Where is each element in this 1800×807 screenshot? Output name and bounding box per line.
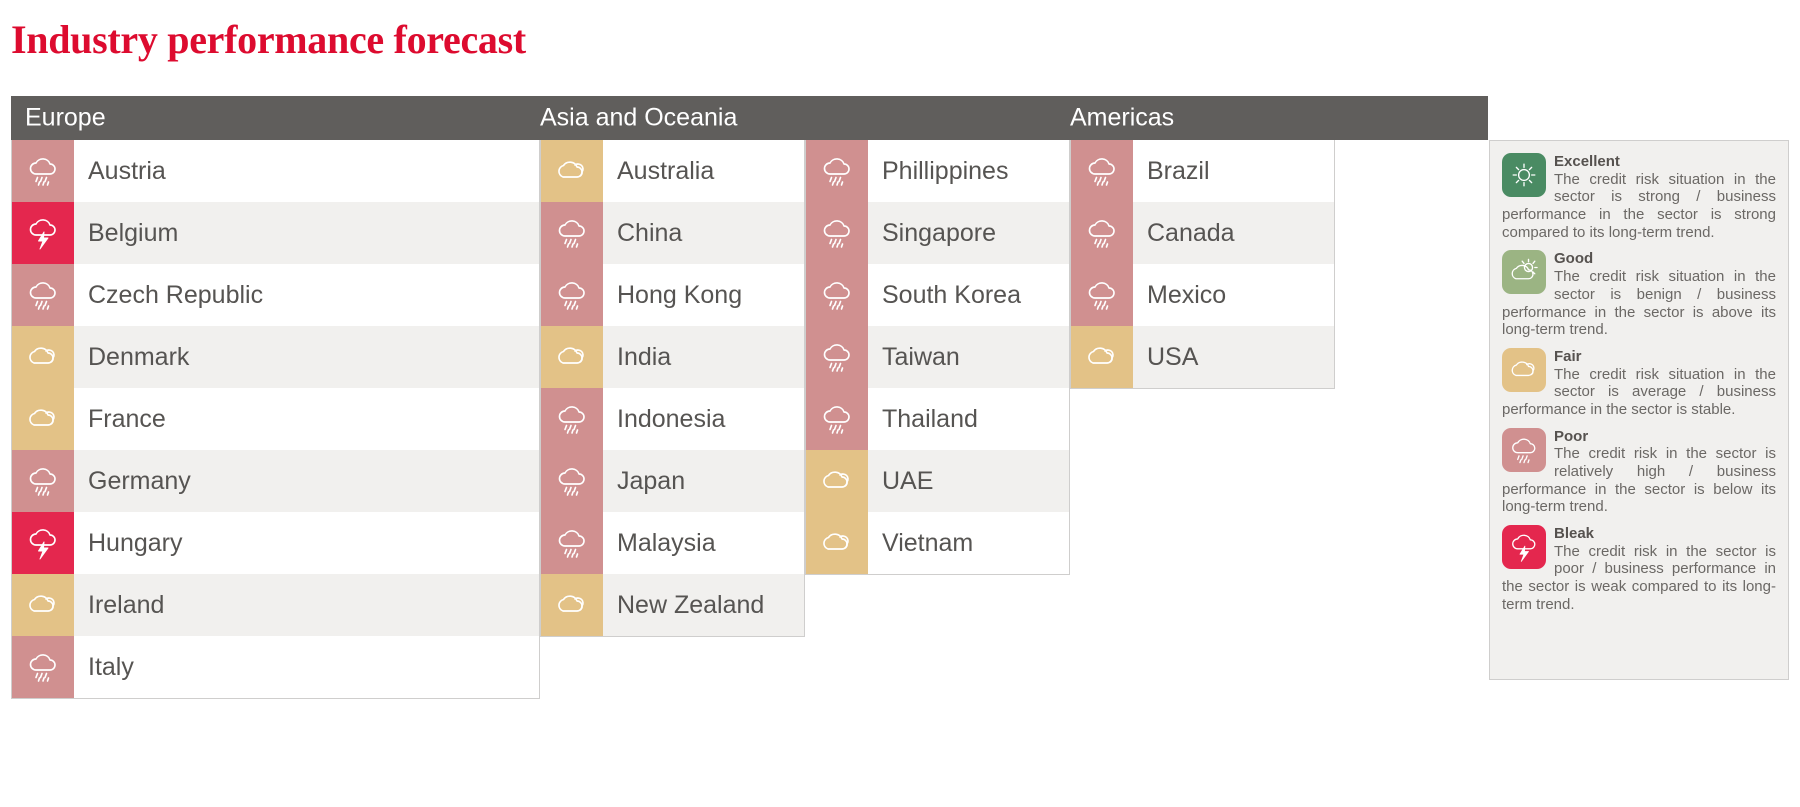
poor-weather-icon xyxy=(541,264,603,326)
country-name: India xyxy=(603,326,804,388)
poor-weather-icon xyxy=(806,388,868,450)
country-name: Denmark xyxy=(74,326,539,388)
country-row[interactable]: Denmark xyxy=(12,326,539,388)
country-name: Canada xyxy=(1133,202,1334,264)
country-row[interactable]: UAE xyxy=(806,450,1069,512)
country-row[interactable]: China xyxy=(541,202,804,264)
country-name: UAE xyxy=(868,450,1069,512)
legend-entry-good: GoodThe credit risk situation in the sec… xyxy=(1502,250,1776,338)
country-name: Malaysia xyxy=(603,512,804,574)
fair-weather-icon xyxy=(12,574,74,636)
fair-weather-icon xyxy=(1502,348,1546,392)
bleak-weather-icon xyxy=(12,202,74,264)
country-row[interactable]: Thailand xyxy=(806,388,1069,450)
excellent-weather-icon xyxy=(1502,153,1546,197)
bleak-weather-icon xyxy=(1502,525,1546,569)
country-name: France xyxy=(74,388,539,450)
legend-entry-poor: PoorThe credit risk in the sector is rel… xyxy=(1502,428,1776,516)
legend-panel: ExcellentThe credit risk situation in th… xyxy=(1489,140,1789,680)
poor-weather-icon xyxy=(541,202,603,264)
poor-weather-icon xyxy=(1071,140,1133,202)
poor-weather-icon xyxy=(541,388,603,450)
country-column-asia-2: PhillippinesSingaporeSouth KoreaTaiwanTh… xyxy=(805,140,1070,575)
poor-weather-icon xyxy=(12,636,74,698)
country-row[interactable]: New Zealand xyxy=(541,574,804,636)
country-column-americas-1: BrazilCanadaMexicoUSA xyxy=(1070,140,1335,389)
country-row[interactable]: Malaysia xyxy=(541,512,804,574)
poor-weather-icon xyxy=(1502,428,1546,472)
country-row[interactable]: Hong Kong xyxy=(541,264,804,326)
country-name: Italy xyxy=(74,636,539,698)
country-row[interactable]: Ireland xyxy=(12,574,539,636)
poor-weather-icon xyxy=(541,512,603,574)
country-row[interactable]: Italy xyxy=(12,636,539,698)
poor-weather-icon xyxy=(12,450,74,512)
poor-weather-icon xyxy=(806,326,868,388)
country-name: Taiwan xyxy=(868,326,1069,388)
fair-weather-icon xyxy=(806,512,868,574)
country-row[interactable]: South Korea xyxy=(806,264,1069,326)
country-row[interactable]: Australia xyxy=(541,140,804,202)
legend-entry-excellent: ExcellentThe credit risk situation in th… xyxy=(1502,153,1776,241)
fair-weather-icon xyxy=(12,326,74,388)
country-row[interactable]: Phillippines xyxy=(806,140,1069,202)
country-row[interactable]: Mexico xyxy=(1071,264,1334,326)
country-name: New Zealand xyxy=(603,574,804,636)
country-name: Hungary xyxy=(74,512,539,574)
country-row[interactable]: Belgium xyxy=(12,202,539,264)
country-name: Czech Republic xyxy=(74,264,539,326)
country-row[interactable]: Singapore xyxy=(806,202,1069,264)
country-row[interactable]: Japan xyxy=(541,450,804,512)
fair-weather-icon xyxy=(12,388,74,450)
region-header-europe: Europe xyxy=(25,104,106,133)
country-row[interactable]: USA xyxy=(1071,326,1334,388)
country-row[interactable]: India xyxy=(541,326,804,388)
country-row[interactable]: Vietnam xyxy=(806,512,1069,574)
region-header-americas: Americas xyxy=(1070,104,1174,133)
bleak-weather-icon xyxy=(12,512,74,574)
country-name: Thailand xyxy=(868,388,1069,450)
country-name: China xyxy=(603,202,804,264)
fair-weather-icon xyxy=(541,326,603,388)
country-row[interactable]: Indonesia xyxy=(541,388,804,450)
fair-weather-icon xyxy=(806,450,868,512)
page-title: Industry performance forecast xyxy=(11,16,526,63)
poor-weather-icon xyxy=(12,140,74,202)
good-weather-icon xyxy=(1502,250,1546,294)
fair-weather-icon xyxy=(541,574,603,636)
country-name: Austria xyxy=(74,140,539,202)
country-name: Germany xyxy=(74,450,539,512)
poor-weather-icon xyxy=(806,264,868,326)
country-name: Mexico xyxy=(1133,264,1334,326)
country-name: Hong Kong xyxy=(603,264,804,326)
poor-weather-icon xyxy=(12,264,74,326)
country-row[interactable]: Austria xyxy=(12,140,539,202)
poor-weather-icon xyxy=(541,450,603,512)
country-name: Phillippines xyxy=(868,140,1069,202)
country-row[interactable]: Hungary xyxy=(12,512,539,574)
legend-entry-fair: FairThe credit risk situation in the sec… xyxy=(1502,348,1776,419)
country-row[interactable]: Germany xyxy=(12,450,539,512)
country-name: Australia xyxy=(603,140,804,202)
poor-weather-icon xyxy=(1071,264,1133,326)
country-name: Belgium xyxy=(74,202,539,264)
country-row[interactable]: France xyxy=(12,388,539,450)
fair-weather-icon xyxy=(541,140,603,202)
country-name: Indonesia xyxy=(603,388,804,450)
country-column-europe-1: AustriaBelgiumCzech RepublicDenmarkFranc… xyxy=(11,140,540,699)
fair-weather-icon xyxy=(1071,326,1133,388)
country-row[interactable]: Canada xyxy=(1071,202,1334,264)
country-name: Singapore xyxy=(868,202,1069,264)
country-name: Japan xyxy=(603,450,804,512)
country-row[interactable]: Taiwan xyxy=(806,326,1069,388)
country-column-asia-1: AustraliaChinaHong KongIndiaIndonesiaJap… xyxy=(540,140,805,637)
country-name: Brazil xyxy=(1133,140,1334,202)
country-row[interactable]: Brazil xyxy=(1071,140,1334,202)
country-name: Ireland xyxy=(74,574,539,636)
country-name: Vietnam xyxy=(868,512,1069,574)
region-header-bar: EuropeAsia and OceaniaAmericas xyxy=(11,96,1488,140)
country-name: USA xyxy=(1133,326,1334,388)
country-name: South Korea xyxy=(868,264,1069,326)
poor-weather-icon xyxy=(806,140,868,202)
poor-weather-icon xyxy=(806,202,868,264)
country-row[interactable]: Czech Republic xyxy=(12,264,539,326)
legend-entry-bleak: BleakThe credit risk in the sector is po… xyxy=(1502,525,1776,613)
poor-weather-icon xyxy=(1071,202,1133,264)
region-header-asia-and-oceania: Asia and Oceania xyxy=(540,104,737,133)
